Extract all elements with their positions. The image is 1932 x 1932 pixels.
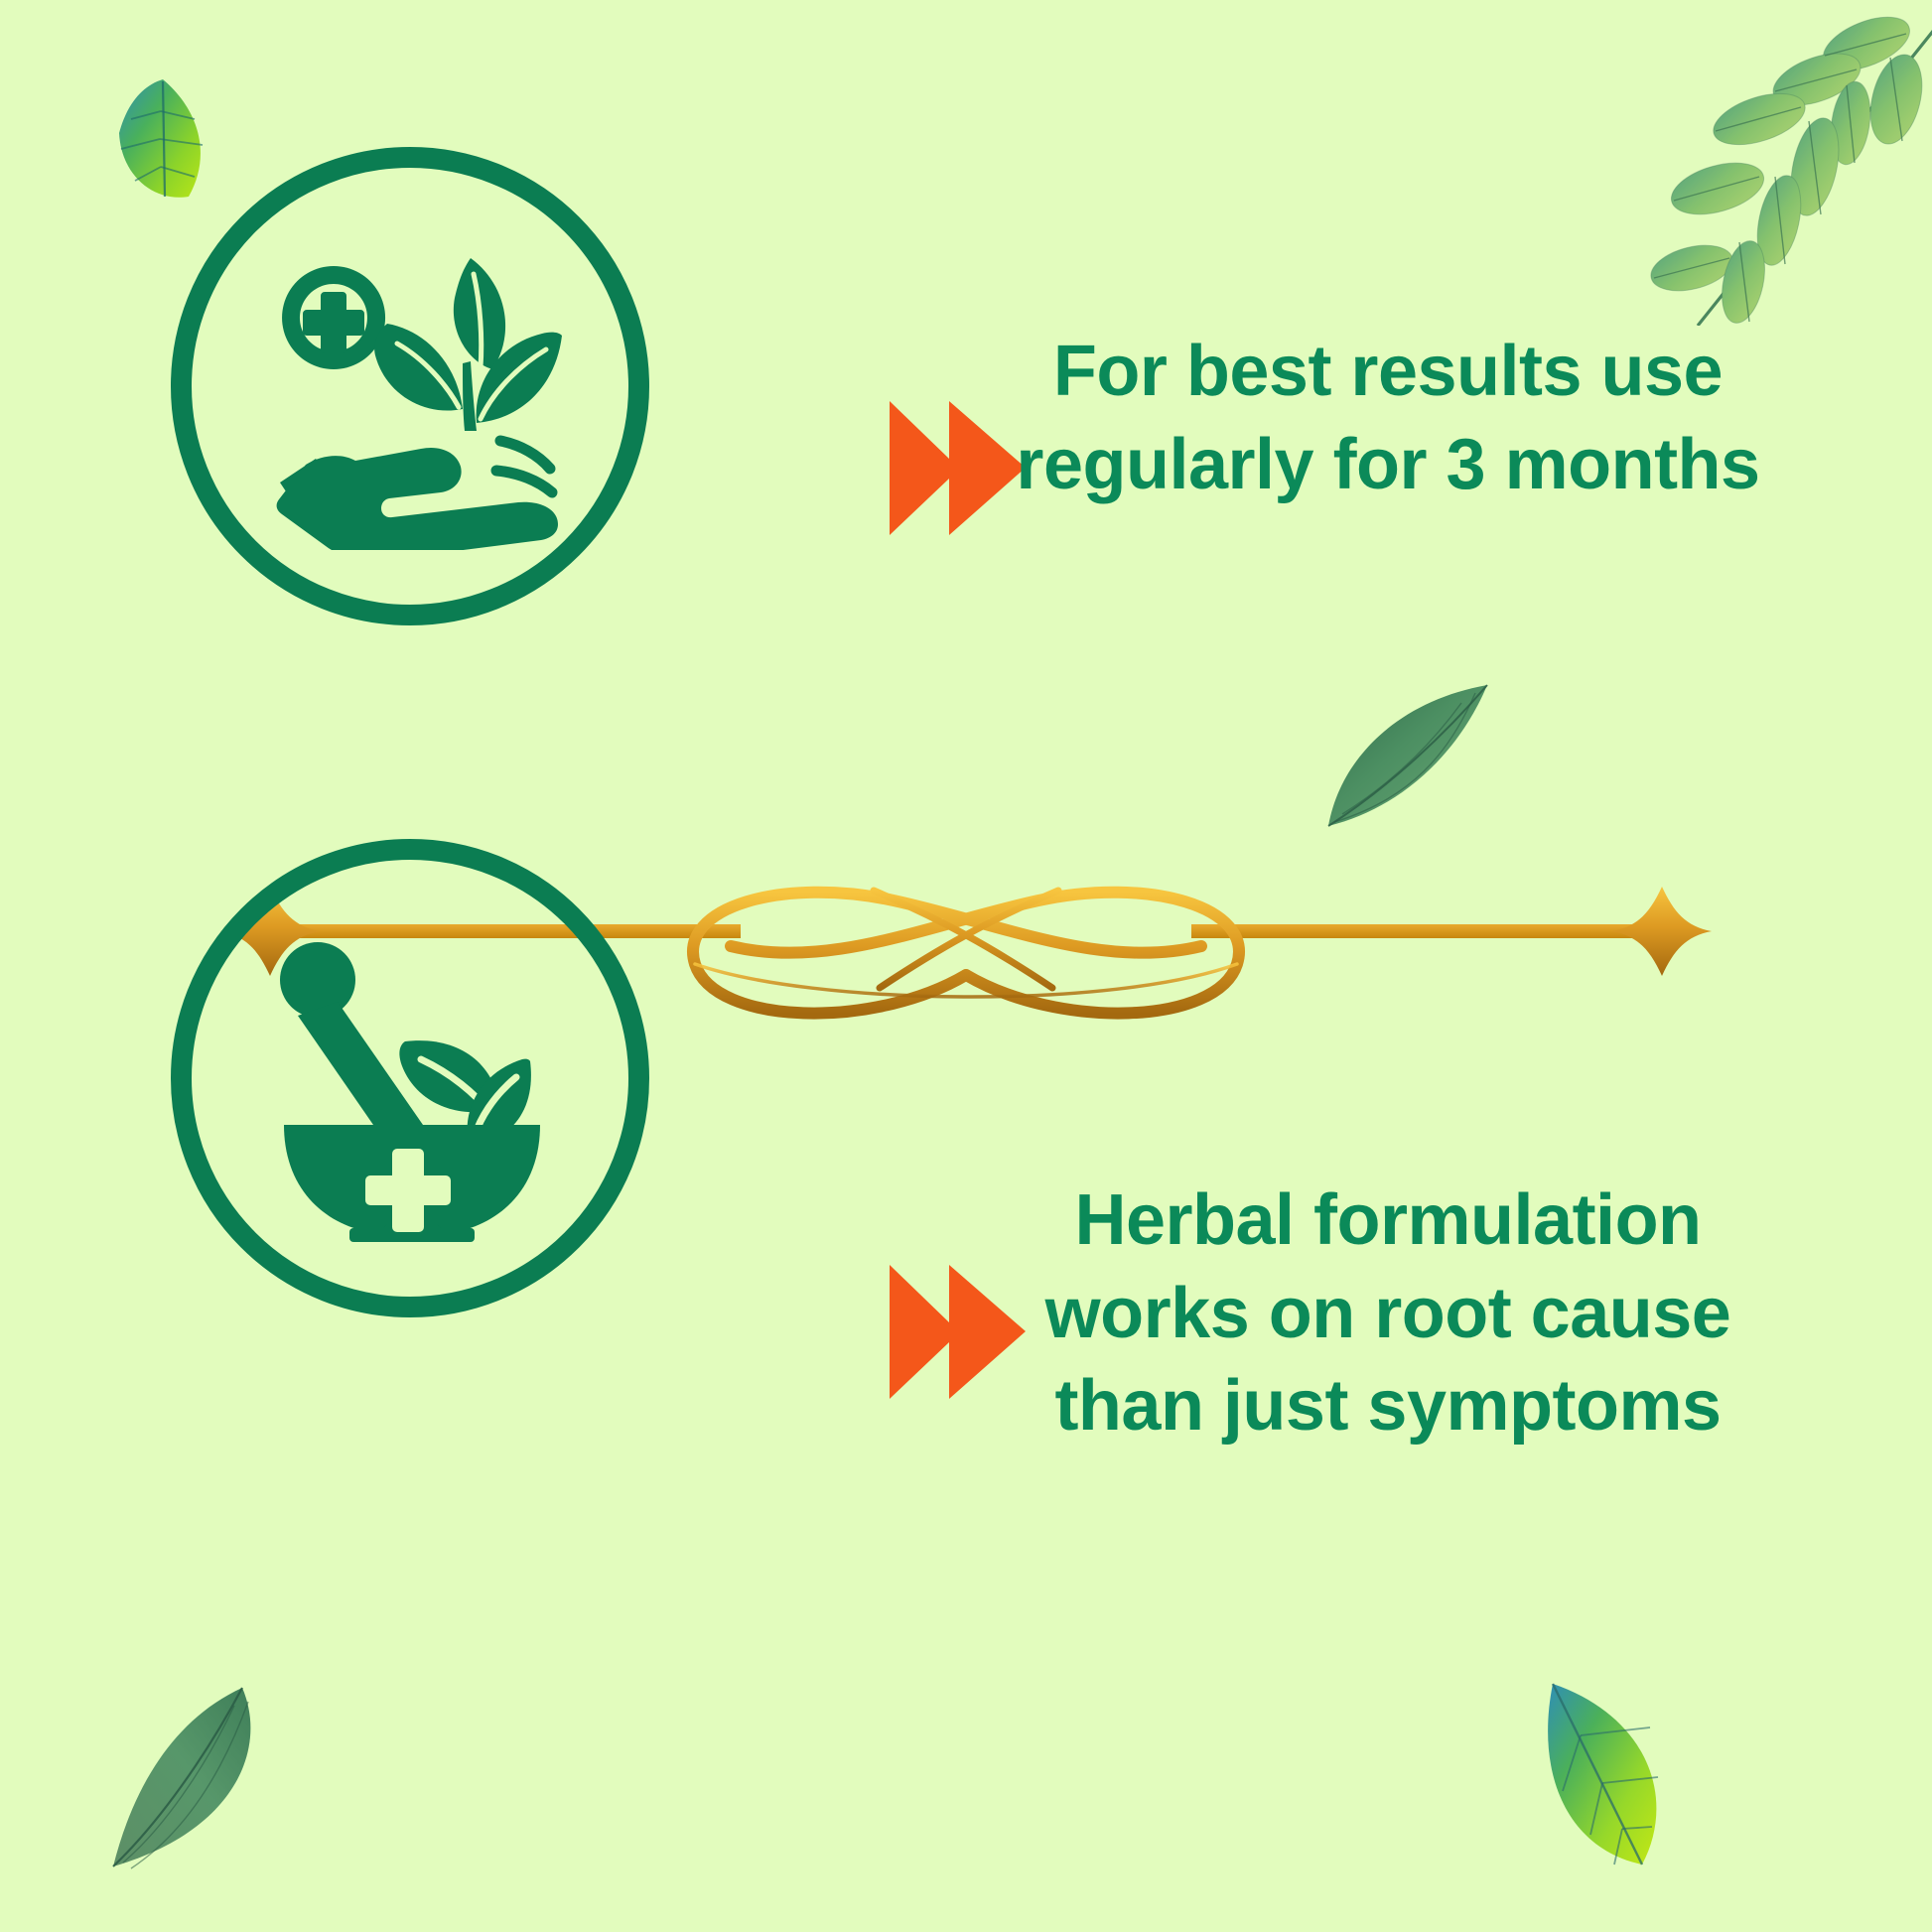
caption-top-line-1: For best results use	[866, 326, 1910, 419]
hand-holding-plant-badge	[171, 147, 649, 625]
poster-canvas: For best results use regularly for 3 mon…	[0, 0, 1932, 1932]
leaf-top-left-icon	[95, 71, 224, 210]
mortar-and-pestle-badge	[171, 839, 649, 1317]
caption-top: For best results use regularly for 3 mon…	[866, 326, 1910, 511]
leaf-bottom-right-icon	[1519, 1670, 1732, 1903]
leaf-bottom-left-icon	[97, 1682, 306, 1895]
caption-bottom-line-1: Herbal formulation	[866, 1174, 1910, 1268]
caption-top-line-2: regularly for 3 months	[866, 419, 1910, 512]
leaf-middle-right-icon	[1312, 675, 1501, 834]
caption-bottom-line-3: than just symptoms	[866, 1360, 1910, 1453]
caption-bottom-line-2: works on root cause	[866, 1268, 1910, 1361]
mortar-and-pestle-icon	[246, 914, 574, 1242]
caption-bottom: Herbal formulation works on root cause t…	[866, 1174, 1910, 1453]
leaf-branch-top-right-icon	[1640, 8, 1932, 326]
hand-holding-plant-icon	[246, 222, 574, 550]
